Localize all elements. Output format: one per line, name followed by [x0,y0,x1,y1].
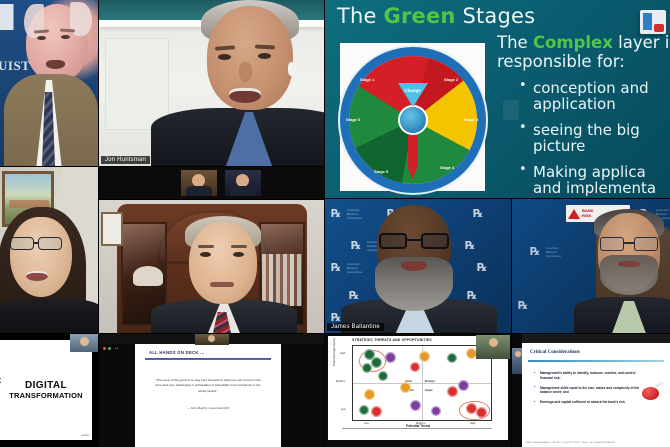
chart-plot-area: Strategic Niche Monitor Urgent [352,345,492,421]
earbud-icon [288,62,296,76]
aba-logo-icon: ℞ [518,299,527,312]
slide-title-pre: The [337,4,384,28]
close-icon[interactable] [103,347,106,350]
window-control-label: ●● [115,347,118,350]
chart-bubble [364,389,375,400]
wheel-segment-label: Stage 3 [464,117,478,122]
chart-bubble [447,386,458,397]
video-tile-participant-5[interactable] [99,200,324,333]
eyeglass-lens-right [634,237,658,251]
chart-quadrant-label: Urgent [425,389,433,392]
participant-mouth [618,261,640,267]
thumbnail-face [515,351,521,357]
ribbon-tail [655,381,664,388]
slide-bullet-list: conception and application seeing the bi… [519,80,670,197]
chart-x-tick: Medium [416,422,425,425]
bullet-line-b: application [533,95,616,113]
eyeglass-lens-right [421,233,449,249]
slide-quote: “The name of the game is to stay very fo… [153,378,263,394]
table-lamp [133,266,163,286]
slide-canvas: ALL HANDS ON DECK ... “The name of the g… [135,344,281,447]
aba-logo-icon: ℞ [351,239,360,252]
participant-name-badge: James Ballantine [327,323,384,331]
participant-eye-right [233,252,244,257]
participant-mouth [229,88,261,103]
minimize-icon[interactable] [108,347,111,350]
chart-quadrant-label: Strategic [425,380,435,383]
participant-name-badge: Jon Huntsman [101,156,150,164]
shared-slide-strategic-threats[interactable]: STRATEGIC THREATS AND OPPORTUNITIES Pote… [325,334,511,447]
chart-bubble [447,353,457,363]
chart-bubble [476,407,487,418]
thumbnail-body [230,186,256,196]
slide-title: The Green Stages [337,4,535,28]
wheel-segment-label: Stage 1 [360,77,374,82]
bullet-line-b: and implementa [533,179,656,197]
chart-x-tick: Low [364,422,369,425]
backdrop-wordmark: UIST [0,58,30,74]
chart-bubble [431,406,441,416]
gallery-thumbnail[interactable] [181,170,217,196]
wheel-segment-label: Stage 4 [440,165,454,170]
shared-slide-digital-transformation[interactable]: C DIGITAL TRANSFORMATION source [0,334,98,447]
slide-bullet: Making applica and implementa [519,164,670,197]
gallery-thumbnail-strip[interactable] [99,167,324,199]
award-ribbon-icon [642,383,664,403]
participant-mouth [401,261,427,271]
slide-body: The Complex layer is responsible for: co… [497,34,670,198]
aba-logo-icon: ℞ [477,261,486,274]
window-controls[interactable]: ●● [103,347,118,350]
wheel-change-label: Change [401,88,425,93]
slide-wheel-diagram: Change Stage 1 Stage 2 Stage 3 Stage 4 S… [340,43,485,191]
eyeglass-bridge [407,239,421,241]
aba-logo-text: American Bankers Association. [347,263,363,274]
chart-bubble [419,351,430,362]
video-tile-participant-8[interactable]: BANKRISK ℞ American Bankers Association.… [512,199,670,333]
presenter-thumbnail[interactable] [195,334,229,345]
participant-eye-left [200,252,211,257]
wall-panel [105,38,169,130]
slide-header-rule [145,358,271,360]
participant-head [10,217,72,297]
gallery-thumbnail[interactable] [225,170,261,196]
chart-x-tick: High [470,422,475,425]
slide-quote-attribution: — John Murphy, Coca-Cola CFO [135,406,281,410]
slide-bullet: conception and application [519,80,670,113]
slide-canvas: Critical Considerations Management's abi… [522,343,670,447]
slide-heading: DIGITAL TRANSFORMATION [0,380,92,400]
eyeglass-lens-left [379,233,407,249]
slide-title-rule [528,360,664,362]
lead-line2: responsible for: [497,52,625,71]
participant-mouth [210,282,234,287]
participant-nose [239,62,252,82]
bullet-line-a: seeing the big [533,121,640,139]
wheel-segment-label: Stage 2 [444,77,458,82]
participant-eye-left [37,36,46,40]
picture-frame [101,212,123,246]
video-tile-jon-huntsman[interactable]: Jon Huntsman [99,0,324,166]
participant-mouth [46,60,65,69]
aba-logo-icon: ℞ [465,239,474,252]
lead-pre: The [497,33,533,52]
participant-eye-right [61,35,70,39]
chart-y-tick: Low [341,408,346,411]
chart-bubble [400,382,411,393]
aba-logo-icon: ℞ [473,207,482,220]
ribbon-body [642,387,659,400]
participant-top [0,299,98,333]
eyeglass-bridge-icon [33,242,39,244]
aba-logo-icon: ℞ [349,289,358,302]
wheel-segment-label: Stage 5 [374,169,388,174]
chart-bubble [385,352,396,363]
chart-y-axis-label: Potential Opportunity [332,338,336,366]
lead-post: layer is [613,33,670,52]
slide-canvas: C DIGITAL TRANSFORMATION source [0,340,92,440]
thumbnail-face [80,337,89,346]
slide-corner-logo-icon [640,10,666,34]
eyeglass-bridge [624,242,634,244]
wheel-change-pointer: Change [398,83,428,107]
video-tile-participant-4[interactable] [0,167,98,333]
slide-lead-text: The Complex layer is responsible for: [497,34,670,72]
participant-head [189,222,257,304]
eyeglass-lens-right-icon [38,237,62,250]
chart-y-tick: High [340,352,345,355]
eyeglasses-icon [379,233,449,249]
thumbnail-body [186,186,212,196]
participant-brow-left [198,245,214,248]
aba-logo-icon: ℞ [530,245,539,258]
warning-badge-text: BANKRISK [582,209,594,218]
participant-brow-right [231,245,247,248]
shared-slide-critical-considerations[interactable]: Critical Considerations Management's abi… [512,334,670,447]
chart-bubble [371,357,382,368]
slide-title-post: Stages [456,4,536,28]
chart-bubble [371,406,382,417]
chart-bubble [410,362,420,372]
presenter-thumbnail[interactable] [70,334,98,352]
eyeglass-lens-left-icon [10,237,34,250]
chart-bubble [410,400,421,411]
video-conference-collage: UIST Jon Huntsman [0,0,670,447]
lead-highlight: Complex [533,33,613,52]
thumbnail-face [208,335,215,342]
slide-bullet: Management's ability to identify, measur… [534,371,646,381]
bullet-line-b: picture [533,137,585,155]
participant-eye-right [258,53,271,59]
chart-y-tick: Medium [336,380,345,383]
aba-logo-text: American Bankers Association. [546,247,562,258]
warning-triangle-icon [568,209,580,219]
slide-bullet: Management skills equal to the size, nat… [534,386,646,396]
slide-footer: source [81,434,89,437]
shared-slide-all-hands-on-deck[interactable]: ●● ALL HANDS ON DECK ... “The name of th… [99,334,324,447]
aba-logo-text: American Bankers Association. [347,209,363,220]
slide-heading-line1: DIGITAL [0,380,92,391]
eyeglasses-icon [600,237,658,251]
chart-bubble [378,371,388,381]
chart-bubble [458,380,469,391]
chart-title: STRATEGIC THREATS AND OPPORTUNITIES [352,338,432,342]
slide-title: Critical Considerations [530,350,580,355]
slide-heading-line2: TRANSFORMATION [0,391,92,400]
participant-mouth [26,271,48,281]
participant-eye-left [218,54,231,60]
video-tile-participant-1[interactable]: UIST [0,0,98,166]
chart-bubble [362,363,372,373]
wheel-segment-label: Stage 6 [346,117,360,122]
presenter-thumbnail[interactable] [476,335,510,359]
bookshelf-books [262,254,302,306]
slide-bullet: Earnings and capital sufficient to absor… [534,400,646,405]
slide-footer: BANK PERFORMANCE • CAPITAL & LIQUIDITY R… [526,442,615,444]
video-tile-james-ballantine[interactable]: ℞ American Bankers Association. ℞ Americ… [325,199,511,333]
slide-bullet-list: Management's ability to identify, measur… [534,371,646,410]
bullet-line-a: Making applica [533,163,646,181]
slide-bullet: seeing the big picture [519,122,670,155]
aba-logo-icon: ℞ [331,261,340,274]
slide-title-highlight: Green [384,4,456,28]
bullet-line-a: conception and [533,79,649,97]
eyeglass-lens-left [600,237,624,251]
slide-header: ALL HANDS ON DECK ... [149,350,205,355]
aba-logo-icon: ℞ [331,207,340,220]
shared-slide-green-stages[interactable]: The Green Stages Change Stage 1 Stage 2 … [325,0,670,198]
chart-bubble [359,405,369,415]
thumbnail-face [489,338,498,347]
slide-footer-rule [342,428,492,429]
